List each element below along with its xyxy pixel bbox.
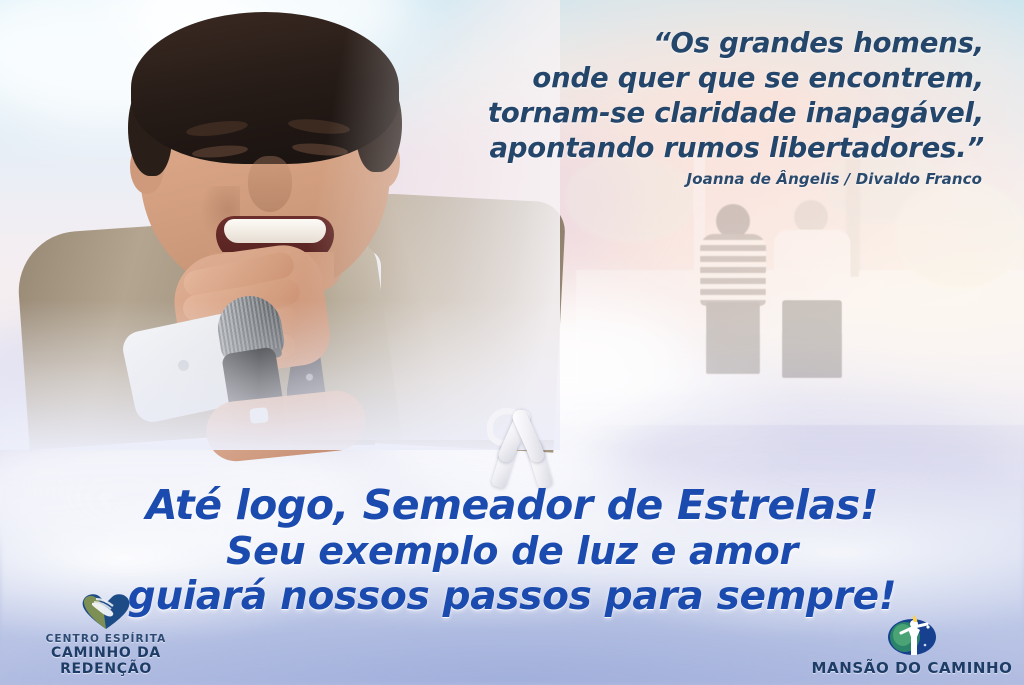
headline-line-1: Até logo, Semeador de Estrelas! <box>0 482 1024 529</box>
logo-centro-espirita: CENTRO ESPÍRITA CAMINHO DA REDENÇÃO <box>8 592 204 677</box>
quote-block: “Os grandes homens, onde quer que se enc… <box>364 26 984 166</box>
quote-line-1: “Os grandes homens, <box>364 26 984 61</box>
heart-hands-icon <box>80 592 132 630</box>
logo-left-line-2: CAMINHO DA REDENÇÃO <box>8 645 204 677</box>
quote-line-3: tornam-se claridade inapagável, <box>364 96 984 131</box>
memorial-poster: “Os grandes homens, onde quer que se enc… <box>0 0 1024 685</box>
quote-line-4: apontando rumos libertadores.” <box>364 131 984 166</box>
logo-right-line-1: MANSÃO DO CAMINHO <box>810 660 1014 677</box>
logo-mansao-do-caminho: MANSÃO DO CAMINHO <box>810 615 1014 677</box>
quote-line-2: onde quer que se encontrem, <box>364 61 984 96</box>
white-mourning-ribbon-icon <box>487 408 557 486</box>
background-photo-two-people <box>576 150 1024 425</box>
globe-figure-icon <box>887 615 937 657</box>
logo-left-line-1: CENTRO ESPÍRITA <box>8 633 204 645</box>
headline-line-2: Seu exemplo de luz e amor <box>0 529 1024 574</box>
quote-attribution: Joanna de Ângelis / Divaldo Franco <box>687 170 982 188</box>
